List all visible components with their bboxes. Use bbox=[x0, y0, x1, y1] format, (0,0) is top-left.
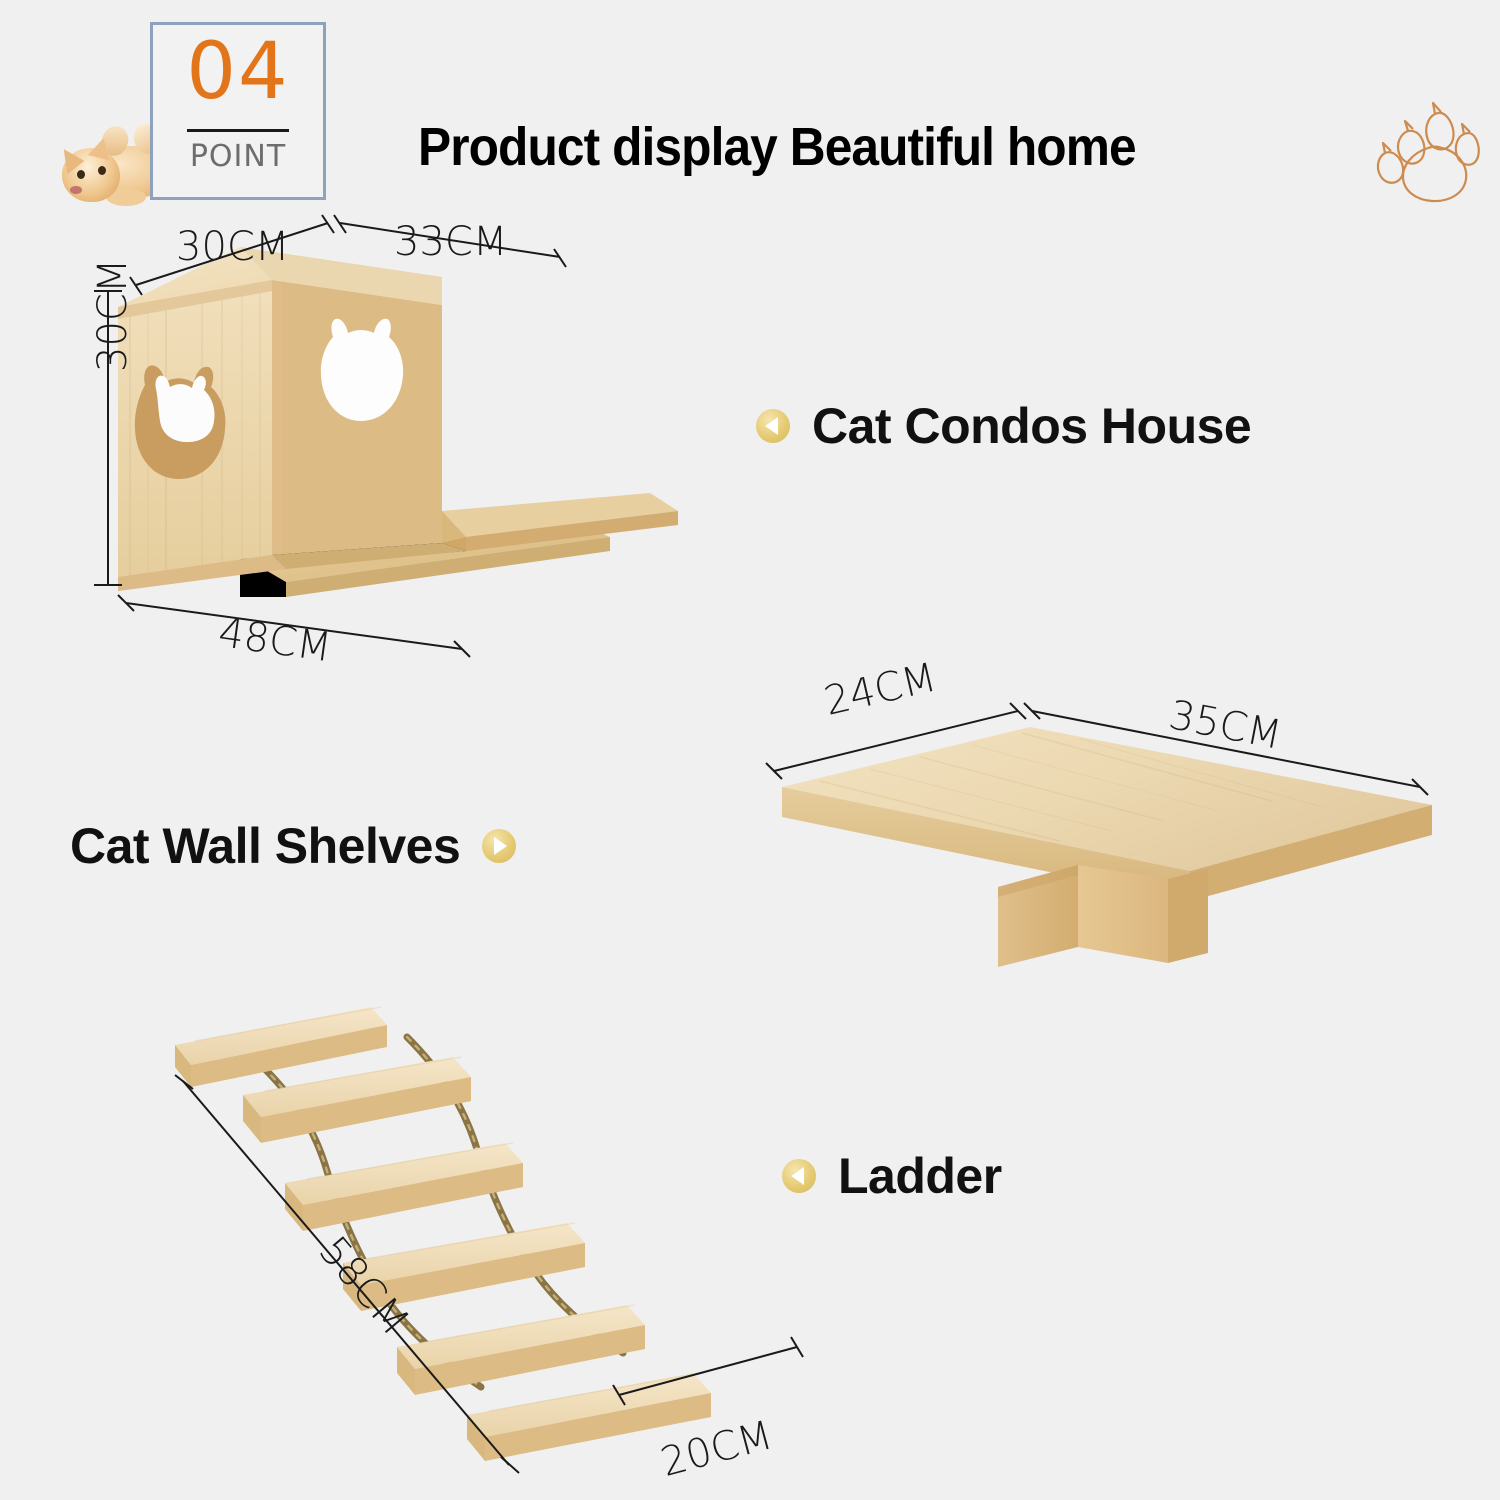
page-title: Product display Beautiful home bbox=[418, 118, 1136, 176]
point-badge: 04 POINT bbox=[38, 8, 338, 213]
cat-condos-house-label: Cat Condos House bbox=[812, 398, 1251, 454]
badge-divider bbox=[187, 129, 289, 132]
bullet-right-icon bbox=[482, 829, 516, 863]
cat-wall-shelves-label: Cat Wall Shelves bbox=[70, 818, 460, 874]
cat-condos-house-label-row: Cat Condos House bbox=[756, 398, 1251, 454]
product-display-page: 04 POINT Product display Beautiful home bbox=[0, 0, 1500, 1500]
badge-number: 04 bbox=[153, 31, 323, 113]
bullet-left-icon bbox=[782, 1159, 816, 1193]
condo-dim-33cm-width: 33CM bbox=[394, 219, 507, 265]
bullet-left-icon bbox=[756, 409, 790, 443]
badge-frame: 04 POINT bbox=[150, 22, 326, 200]
cat-condos-house-dimension-lines bbox=[90, 225, 710, 725]
cat-wall-shelves-label-row: Cat Wall Shelves bbox=[70, 818, 516, 874]
badge-caption: POINT bbox=[153, 137, 323, 177]
paw-print-icon bbox=[1372, 96, 1490, 212]
ladder-dimension-lines bbox=[175, 995, 875, 1475]
condo-dim-30cm-height: 30CM bbox=[90, 259, 136, 372]
condo-dim-30cm-depth: 30CM bbox=[176, 224, 289, 270]
ladder-label: Ladder bbox=[838, 1148, 1002, 1204]
ladder-label-row: Ladder bbox=[782, 1148, 1002, 1204]
